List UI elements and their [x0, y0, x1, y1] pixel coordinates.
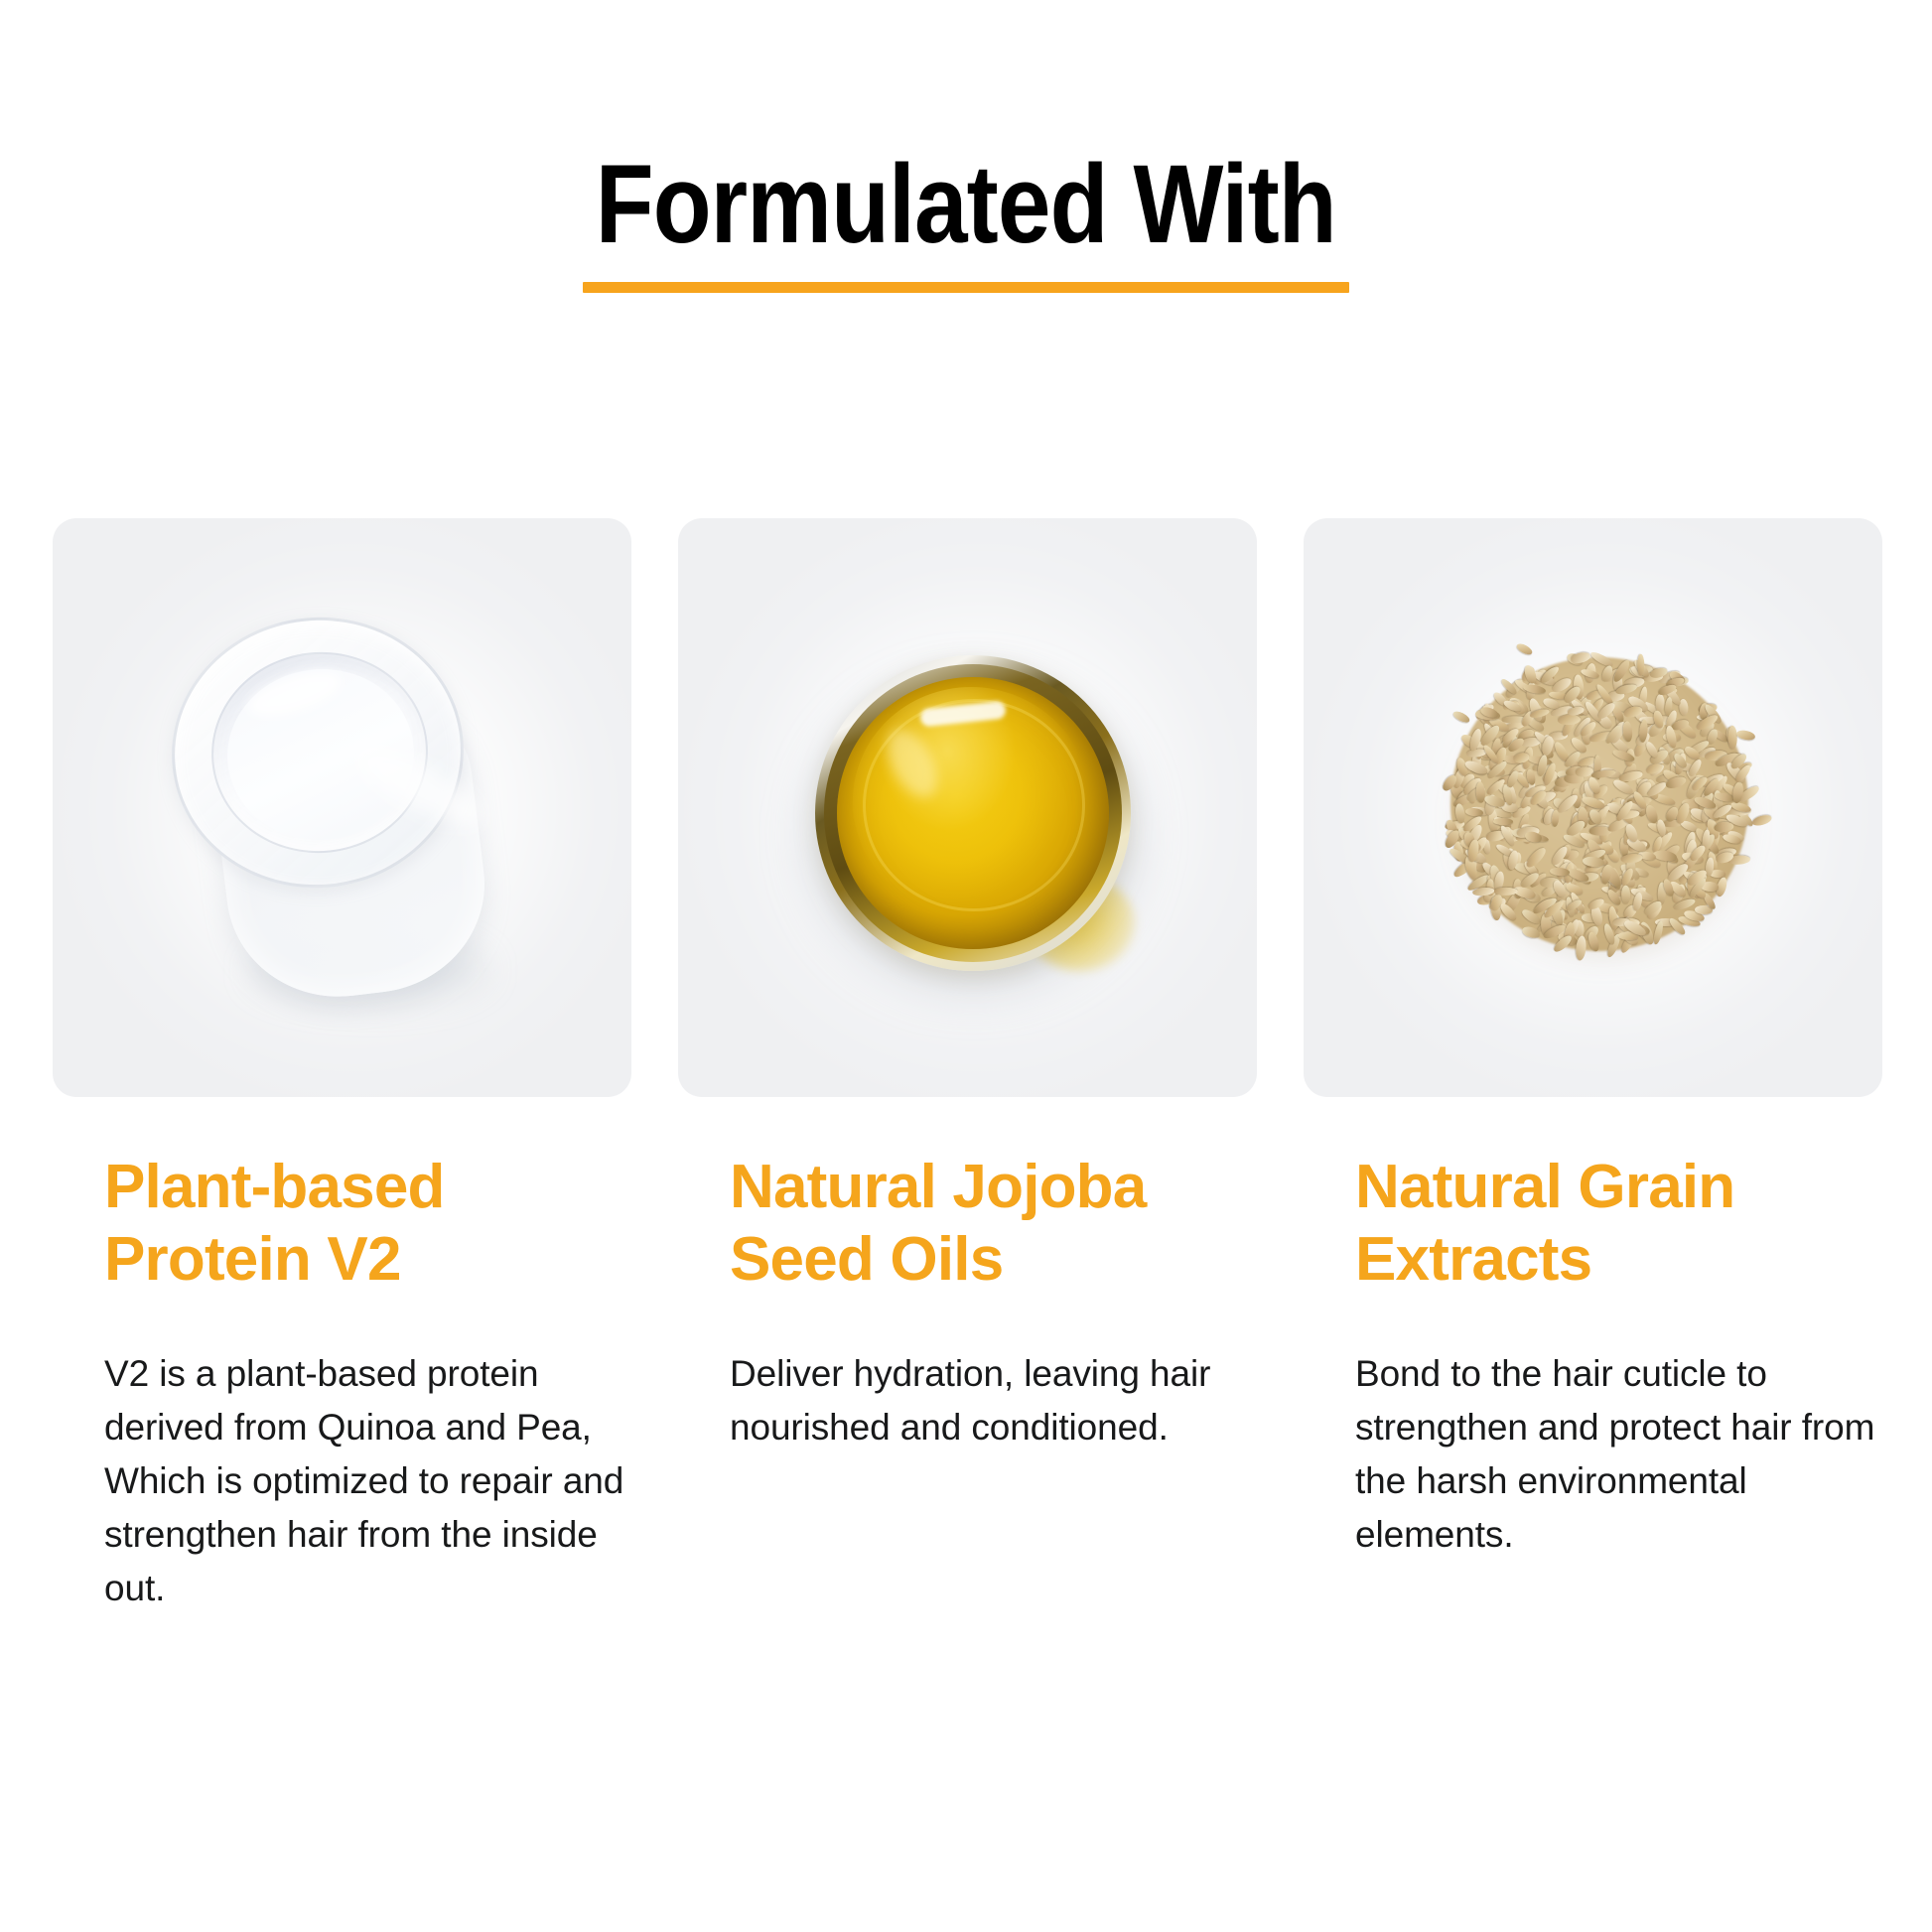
ingredient-text-grain-extracts: Natural Grain Extracts Bond to the hair … — [1304, 1152, 1882, 1615]
page-title: Formulated With — [596, 149, 1336, 260]
grain-seed-stray — [1515, 641, 1534, 656]
grain-seed-stray — [1451, 709, 1470, 724]
ingredient-heading: Plant-based Protein V2 — [104, 1152, 627, 1296]
clear-gel-jar-image — [53, 518, 631, 1097]
grain-seed-stray — [1735, 729, 1755, 742]
title-underline-accent — [583, 282, 1349, 293]
grain-pile-image — [1304, 518, 1882, 1097]
ingredient-text-plant-based-protein: Plant-based Protein V2 V2 is a plant-bas… — [53, 1152, 631, 1615]
ingredient-heading: Natural Jojoba Seed Oils — [730, 1152, 1253, 1296]
ingredient-heading: Natural Grain Extracts — [1355, 1152, 1878, 1296]
grain-seed — [1727, 726, 1737, 750]
ingredient-description: Bond to the hair cuticle to strengthen a… — [1355, 1347, 1878, 1562]
header: Formulated With — [0, 149, 1932, 293]
grain-seed-stray — [1751, 813, 1772, 827]
formulated-with-panel: Formulated With — [0, 0, 1932, 1932]
ingredient-description: Deliver hydration, leaving hair nourishe… — [730, 1347, 1253, 1454]
ingredient-card-plant-based-protein — [53, 518, 631, 1097]
ingredient-card-jojoba-seed-oils — [678, 518, 1257, 1097]
ingredient-card-grain-extracts — [1304, 518, 1882, 1097]
grain-seed — [1621, 885, 1630, 904]
ingredient-description: V2 is a plant-based protein derived from… — [104, 1347, 627, 1615]
ingredient-text-grid: Plant-based Protein V2 V2 is a plant-bas… — [53, 1152, 1883, 1615]
ingredient-text-jojoba-seed-oils: Natural Jojoba Seed Oils Deliver hydrati… — [678, 1152, 1257, 1615]
ingredient-image-grid — [53, 518, 1883, 1097]
